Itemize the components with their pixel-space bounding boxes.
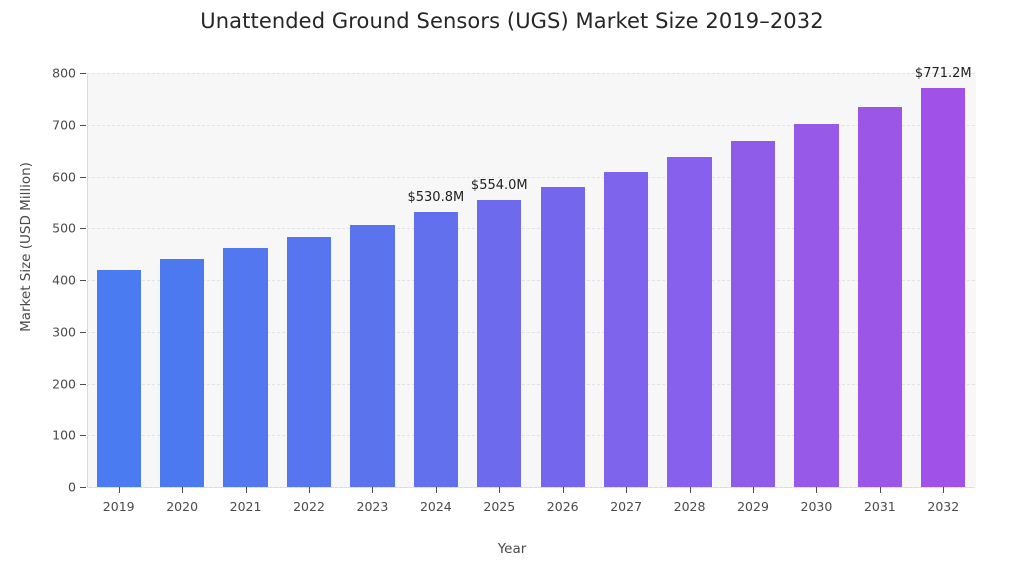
x-axis-tick-mark [436,487,437,493]
x-axis-tick-mark [690,487,691,493]
y-axis-tick-mark [80,280,86,281]
bar-2031[interactable] [858,107,902,487]
x-axis-tick-label-2030: 2030 [801,499,833,514]
x-axis-tick-mark [880,487,881,493]
y-axis-tick-labels: 0100200300400500600700800 [10,0,76,576]
x-axis-tick-label-2027: 2027 [610,499,642,514]
x-axis-tick-mark [563,487,564,493]
x-axis-tick-mark [246,487,247,493]
bar-2023[interactable] [350,225,394,487]
x-axis-tick-label-2019: 2019 [103,499,135,514]
bar-value-label-2024: $530.8M [407,190,464,205]
y-axis-tick-label: 600 [16,169,76,184]
chart-title: Unattended Ground Sensors (UGS) Market S… [0,9,1024,33]
x-axis-tick-label-2032: 2032 [927,499,959,514]
x-axis-tick-mark [626,487,627,493]
bar-2022[interactable] [287,237,331,487]
x-axis-tick-label-2020: 2020 [166,499,198,514]
x-axis-tick-mark [499,487,500,493]
x-axis-tick-mark [816,487,817,493]
x-axis-tick-label-2031: 2031 [864,499,896,514]
y-axis-tick-mark [80,435,86,436]
bar-2027[interactable] [604,172,648,487]
x-axis-tick-mark [309,487,310,493]
bar-2019[interactable] [97,270,141,487]
y-axis-tick-mark [80,332,86,333]
x-axis-tick-label-2026: 2026 [547,499,579,514]
bar-2030[interactable] [794,124,838,487]
bar-2032[interactable] [921,88,965,487]
y-axis-tick-mark [80,487,86,488]
x-axis-title: Year [0,541,1024,557]
bar-2029[interactable] [731,141,775,487]
x-axis-tick-label-2029: 2029 [737,499,769,514]
chart-figure: Unattended Ground Sensors (UGS) Market S… [0,0,1024,576]
bar-2021[interactable] [223,248,267,487]
bar-2026[interactable] [541,187,585,487]
x-axis-tick-mark [119,487,120,493]
y-axis-tick-label: 400 [16,273,76,288]
x-axis-tick-label-2021: 2021 [230,499,262,514]
bar-2024[interactable] [414,212,458,487]
y-axis-tick-mark [80,125,86,126]
x-axis-ticks: 2019202020212022202320242025202620272028… [87,487,975,527]
y-axis-tick-label: 500 [16,221,76,236]
x-axis-tick-label-2025: 2025 [483,499,515,514]
y-axis-tick-mark [80,177,86,178]
y-axis-tick-label: 300 [16,324,76,339]
y-axis-tick-label: 700 [16,117,76,132]
y-axis-tick-label: 200 [16,376,76,391]
y-axis-tick-label: 800 [16,66,76,81]
y-axis-tick-mark [80,228,86,229]
x-axis-tick-label-2023: 2023 [357,499,389,514]
y-axis-tick-label: 100 [16,428,76,443]
x-axis-tick-mark [753,487,754,493]
y-axis-tick-mark [80,384,86,385]
x-axis-tick-label-2022: 2022 [293,499,325,514]
bar-2020[interactable] [160,259,204,487]
y-axis-tick-mark [80,73,86,74]
bar-2028[interactable] [667,157,711,487]
x-axis-tick-mark [182,487,183,493]
bar-value-label-2025: $554.0M [471,178,528,193]
x-axis-tick-label-2024: 2024 [420,499,452,514]
y-axis-tick-label: 0 [16,480,76,495]
bar-2025[interactable] [477,200,521,487]
x-axis-tick-mark [943,487,944,493]
x-axis-tick-mark [372,487,373,493]
bar-value-label-2032: $771.2M [915,66,972,81]
bar-series [87,73,975,487]
x-axis-tick-label-2028: 2028 [674,499,706,514]
